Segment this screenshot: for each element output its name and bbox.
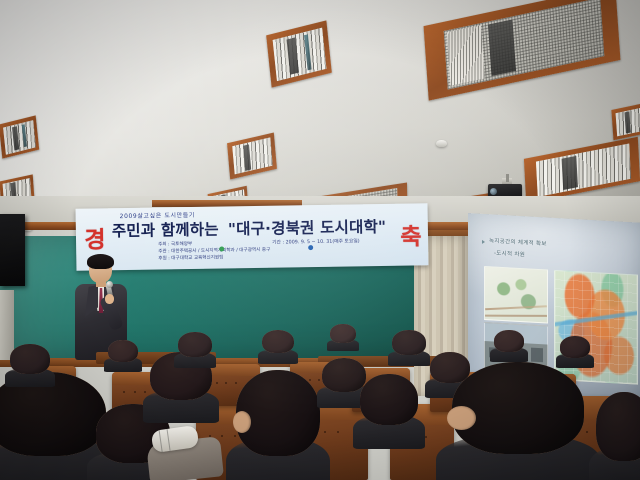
- slide-bullet-2: -도시적 차원: [494, 249, 525, 259]
- banner-period-line: 기간 : 2009. 9. 5 ~ 10. 31(매주 토요일): [272, 237, 360, 245]
- audience-member: [10, 344, 50, 382]
- audience-head: [494, 330, 524, 352]
- audience-member: [560, 336, 590, 364]
- audience-hair: [178, 332, 212, 357]
- audience-head: [178, 332, 212, 357]
- audience-head: [452, 362, 584, 454]
- chair-stud: [324, 431, 326, 433]
- chair-stud: [144, 391, 146, 393]
- paper-line: [167, 429, 171, 451]
- audience-hair: [392, 330, 426, 355]
- audience-hair: [494, 330, 524, 352]
- audience-member: [178, 332, 212, 364]
- chair-stud: [123, 391, 125, 393]
- audience-head: [560, 336, 590, 358]
- audience-hair: [10, 344, 50, 374]
- paper-line: [159, 430, 163, 452]
- audience-hair: [560, 336, 590, 358]
- organizer-logo-blue-icon: [308, 245, 313, 250]
- audience-hair: [360, 374, 418, 425]
- audience-head: [596, 392, 640, 461]
- chair-stud: [337, 431, 339, 433]
- slide-bullet-icon: [482, 240, 485, 244]
- audience-member: [596, 392, 640, 480]
- audience-member: [392, 330, 426, 362]
- audience-head: [262, 330, 294, 353]
- wall-speaker: [0, 214, 25, 286]
- vent-louvers: [447, 25, 485, 86]
- audience-head: [236, 370, 320, 456]
- slide-image-site-plan: [484, 266, 548, 324]
- photo-block: [531, 348, 543, 363]
- audience-head: [330, 324, 356, 343]
- organizer-logo-green-icon: [219, 246, 224, 251]
- audience-head: [392, 330, 426, 355]
- audience-ear: [447, 406, 476, 430]
- chair-stud: [586, 431, 588, 433]
- banner-right-char: 축: [396, 217, 427, 251]
- banner-host-line: 주최 : 국토해양부: [158, 241, 192, 248]
- plan-road: [485, 305, 547, 310]
- banner-title-quoted: "대구·경북권 도시대학": [228, 215, 387, 239]
- banner-title-prefix: 주민과 함께하는: [112, 218, 219, 242]
- audience-hair: [108, 340, 138, 362]
- audience-hair: [596, 392, 640, 461]
- projector-lens-icon: [490, 188, 497, 195]
- audience-member: [494, 330, 524, 358]
- presenter-hair: [87, 254, 114, 269]
- audience-member: [262, 330, 294, 360]
- audience-member: [452, 362, 584, 480]
- vent-shadow: [562, 156, 579, 189]
- audience-hair: [330, 324, 356, 343]
- audience-hair: [262, 330, 294, 353]
- plan-road-secondary: [485, 314, 547, 316]
- projector-arm: [506, 174, 509, 182]
- banner-sponsor-line: 후원 : 대구대학교 교육혁신지원팀: [158, 254, 223, 261]
- audience-member: [108, 340, 138, 368]
- audience-head: [10, 344, 50, 374]
- chair-stud: [216, 382, 218, 384]
- chair-stud: [225, 382, 227, 384]
- audience-hair: [236, 370, 320, 456]
- microphone-head-icon: [106, 281, 113, 288]
- audience-head: [360, 374, 418, 425]
- sprinkler-head-icon: [436, 140, 447, 147]
- banner-left-char: 경: [80, 220, 111, 254]
- presenter-hand: [105, 294, 114, 304]
- chair-stud: [221, 435, 223, 437]
- audience-member: [236, 370, 320, 480]
- audience-head: [108, 340, 138, 362]
- ceiling: [0, 0, 640, 206]
- vent-shadow: [488, 20, 517, 77]
- audience-member: [360, 374, 418, 440]
- lecture-hall-photo: 녹지공간의 체계적 확보 -도시적 차원 경 축 2009살고싶은 도시만들기 …: [0, 0, 640, 480]
- banner-organizer-line: 주관 : 대한주택공사 / 도시지역계획학과 / 대구광역시 중구: [158, 247, 270, 255]
- chair-stud: [134, 391, 136, 393]
- audience-member: [330, 324, 356, 348]
- audience-hair: [452, 362, 584, 454]
